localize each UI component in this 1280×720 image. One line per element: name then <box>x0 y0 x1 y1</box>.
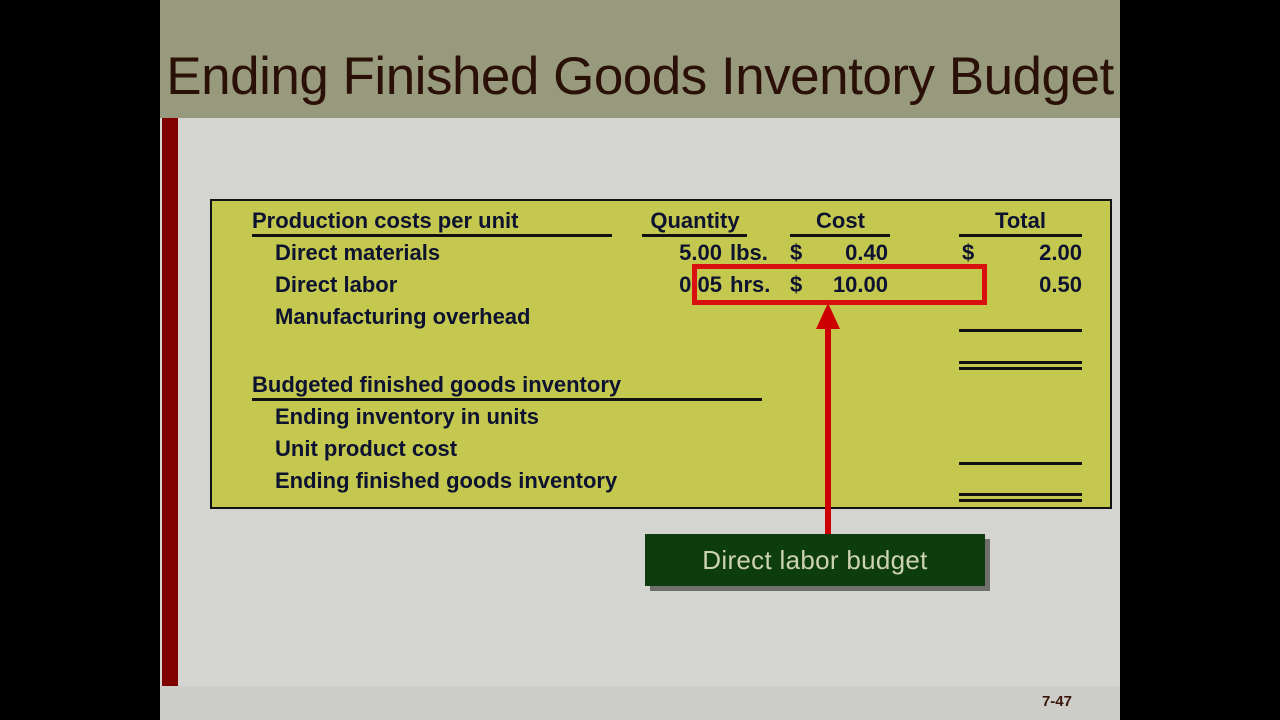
column-header-total: Total <box>959 205 1082 237</box>
callout-box: Direct labor budget <box>645 534 985 586</box>
left-accent-stripe <box>162 118 178 686</box>
ending-inventory-total-double-rule <box>959 493 1082 496</box>
unit-cost-subtotal-rule <box>959 329 1082 332</box>
row-label-ending-inventory-in-units: Ending inventory in units <box>275 401 539 433</box>
direct-labor-quantity: 0.05 <box>642 269 722 301</box>
callout-label: Direct labor budget <box>702 545 927 576</box>
section-heading-production-costs: Production costs per unit <box>252 205 518 237</box>
row-label-unit-product-cost: Unit product cost <box>275 433 457 465</box>
row-label-manufacturing-overhead: Manufacturing overhead <box>275 301 530 333</box>
row-label-ending-finished-goods-inventory: Ending finished goods inventory <box>275 465 617 497</box>
direct-labor-unit: hrs. <box>730 269 782 301</box>
direct-materials-total-currency: $ <box>962 237 982 269</box>
direct-materials-quantity: 5.00 <box>642 237 722 269</box>
direct-materials-total: 2.00 <box>1002 237 1082 269</box>
unit-product-cost-total <box>1002 433 1082 465</box>
section-heading-budgeted-finished-goods: Budgeted finished goods inventory <box>252 369 621 401</box>
callout-arrow-icon <box>815 303 841 541</box>
ending-finished-goods-inventory-table: Production costs per unit Quantity Cost … <box>210 199 1112 509</box>
row-label-direct-materials: Direct materials <box>275 237 440 269</box>
direct-materials-unit: lbs. <box>730 237 782 269</box>
direct-materials-cost-currency: $ <box>790 237 810 269</box>
direct-labor-total-currency <box>962 269 982 301</box>
direct-labor-budget-callout: Direct labor budget <box>645 534 985 586</box>
unit-cost-total-double-rule <box>959 361 1082 364</box>
direct-labor-cost: 10.00 <box>808 269 888 301</box>
page-number: 7-47 <box>1042 693 1072 710</box>
ending-inventory-in-units-total <box>1002 401 1082 433</box>
direct-labor-total: 0.50 <box>1002 269 1082 301</box>
page-title: Ending Finished Goods Inventory Budget <box>160 48 1120 106</box>
direct-labor-cost-currency: $ <box>790 269 810 301</box>
row-label-direct-labor: Direct labor <box>275 269 397 301</box>
direct-materials-cost: 0.40 <box>808 237 888 269</box>
slide-canvas: Ending Finished Goods Inventory Budget P… <box>160 0 1120 720</box>
column-header-cost: Cost <box>788 205 893 237</box>
slide-footer-band <box>160 686 1120 720</box>
column-header-quantity: Quantity <box>640 205 750 237</box>
